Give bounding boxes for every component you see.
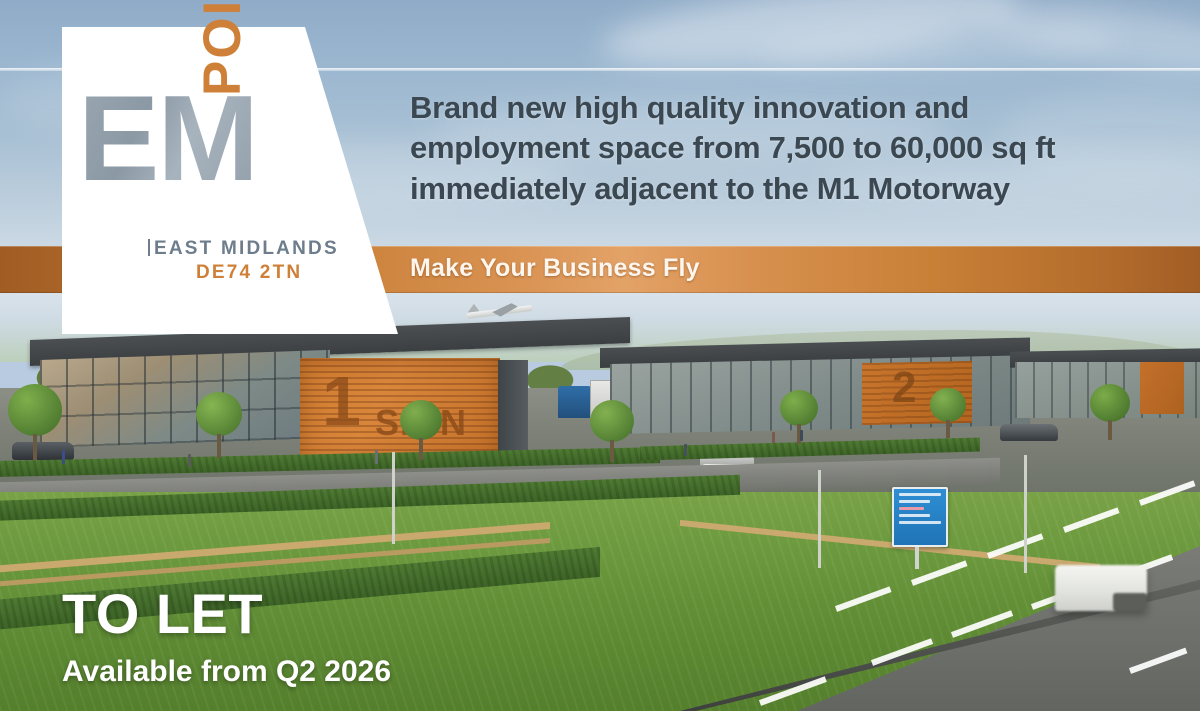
sign-text-line xyxy=(899,493,941,496)
cgi-render-scene: 1 SIGN 2 xyxy=(0,292,1200,711)
building-2-number: 2 xyxy=(892,366,916,410)
sign-text-line xyxy=(899,514,930,517)
pedestrian xyxy=(62,450,65,464)
lamp-post xyxy=(1024,455,1027,573)
tree xyxy=(780,390,818,426)
tree xyxy=(400,400,442,440)
sign-text-line xyxy=(899,521,941,524)
logo-divider-bar xyxy=(148,239,150,256)
logo-postcode: DE74 2TN xyxy=(196,262,302,284)
marketing-poster: 1 SIGN 2 xyxy=(0,0,1200,711)
tree xyxy=(930,388,966,422)
headline-line-2: employment space from 7,500 to 60,000 sq… xyxy=(410,128,1110,168)
pedestrian xyxy=(800,430,803,441)
logo-em-mark: EM xyxy=(78,82,257,194)
tree xyxy=(196,392,242,436)
building-1-number: 1 xyxy=(322,366,361,436)
availability-label: Available from Q2 2026 xyxy=(62,657,391,687)
logo-point-mark: POINT xyxy=(196,0,249,96)
lamp-post xyxy=(392,452,395,544)
pedestrian xyxy=(188,454,191,467)
lorry-cab xyxy=(558,386,592,418)
tree xyxy=(8,384,62,436)
aeroplane-icon xyxy=(466,304,532,318)
parked-car xyxy=(1000,424,1058,441)
motorway-direction-sign xyxy=(892,487,948,547)
headline-block: Brand new high quality innovation and em… xyxy=(410,88,1110,209)
sign-text-line xyxy=(899,500,930,503)
logo-region-label: EAST MIDLANDS xyxy=(148,238,339,260)
headline-line-3: immediately adjacent to the M1 Motorway xyxy=(410,169,1110,209)
sign-post xyxy=(915,547,919,569)
to-let-label: TO LET xyxy=(62,586,263,642)
building-1-side-wall xyxy=(498,360,528,460)
pedestrian xyxy=(375,450,378,464)
tagline-text: Make Your Business Fly xyxy=(410,254,700,283)
pedestrian xyxy=(684,444,687,456)
tree xyxy=(1090,384,1130,422)
lamp-post xyxy=(818,470,821,568)
tree xyxy=(590,400,634,442)
logo-region-text: EAST MIDLANDS xyxy=(154,238,339,259)
motorway-van xyxy=(1055,565,1147,611)
headline-line-1: Brand new high quality innovation and xyxy=(410,88,1110,128)
pedestrian xyxy=(772,432,775,443)
sign-route-marker xyxy=(899,507,924,510)
building-3-timber-cladding xyxy=(1140,362,1184,414)
building-1-glazing xyxy=(40,350,330,448)
